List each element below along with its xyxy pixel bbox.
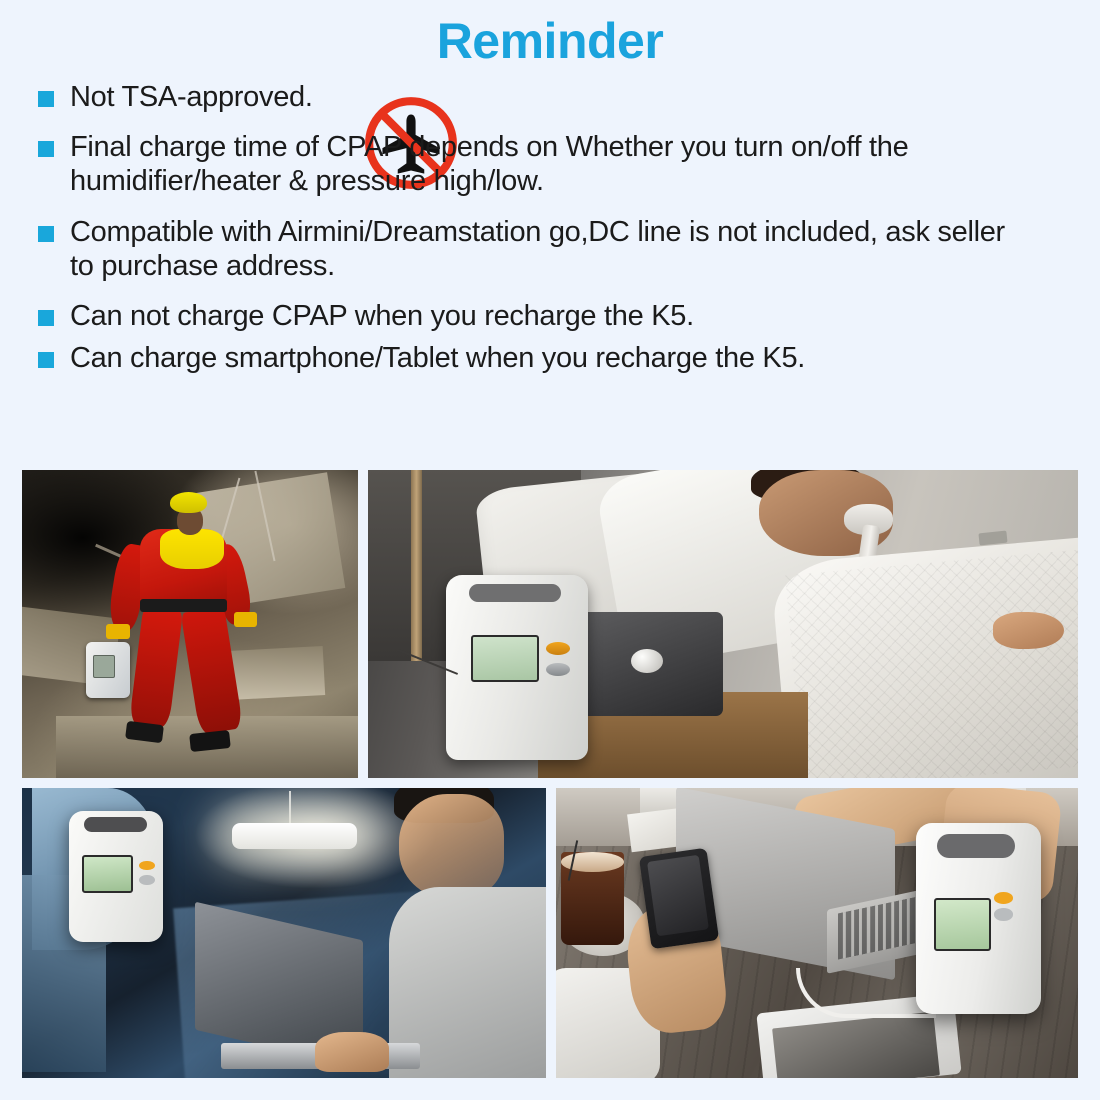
photo-cafe-table (556, 788, 1078, 1078)
k5-handle (937, 834, 1015, 857)
k5-mode-button (546, 663, 570, 677)
k5-lcd-display (471, 635, 539, 682)
blanket-texture (785, 550, 1078, 778)
photo-camping-tent (22, 788, 546, 1078)
worker-glove-left (106, 624, 130, 639)
reminder-page: Reminder Not TSA-approved. Final charge … (0, 0, 1100, 1100)
list-item: Can not charge CPAP when you recharge th… (38, 299, 1070, 333)
k5-mode-button (994, 908, 1013, 920)
reminder-bullet-list: Not TSA-approved. Final charge time of C… (0, 80, 1100, 376)
photo-cpap-bedside (368, 470, 1078, 778)
square-bullet-icon (38, 226, 54, 242)
k5-handle (469, 584, 561, 602)
led-light-bar (232, 823, 358, 849)
worker-belt (140, 599, 227, 611)
photo-row-top (22, 470, 1078, 778)
photo-row-bottom (22, 788, 1078, 1078)
k5-lcd-display (82, 855, 133, 894)
list-item: Not TSA-approved. (38, 80, 1070, 114)
bed-post (411, 470, 422, 661)
square-bullet-icon (38, 310, 54, 326)
power-station-display (93, 655, 115, 679)
camper-hand (315, 1032, 388, 1073)
bullet-text: Can charge smartphone/Tablet when you re… (70, 341, 805, 375)
photo-grid (22, 470, 1078, 1078)
camper-head (399, 794, 504, 898)
photo-rescue-worker (22, 470, 358, 778)
bullet-text: Not TSA-approved. (70, 80, 313, 114)
worker-helmet (170, 492, 207, 514)
k5-handle (84, 817, 147, 832)
lamp-hook (289, 791, 291, 826)
bullet-text: Compatible with Airmini/Dreamstation go,… (70, 215, 1030, 283)
list-item: Final charge time of CPAP depends on Whe… (38, 130, 1070, 198)
bullet-text: Final charge time of CPAP depends on Whe… (70, 130, 1030, 198)
list-item: Compatible with Airmini/Dreamstation go,… (38, 215, 1070, 283)
list-item: Can charge smartphone/Tablet when you re… (38, 341, 1070, 375)
page-title: Reminder (0, 0, 1100, 66)
square-bullet-icon (38, 352, 54, 368)
bullet-text: Can not charge CPAP when you recharge th… (70, 299, 694, 333)
square-bullet-icon (38, 91, 54, 107)
sleeper-hand (993, 612, 1064, 649)
k5-lcd-display (934, 898, 990, 951)
worker-glove-right (234, 612, 258, 627)
square-bullet-icon (38, 141, 54, 157)
smartphone-screen (647, 854, 709, 936)
